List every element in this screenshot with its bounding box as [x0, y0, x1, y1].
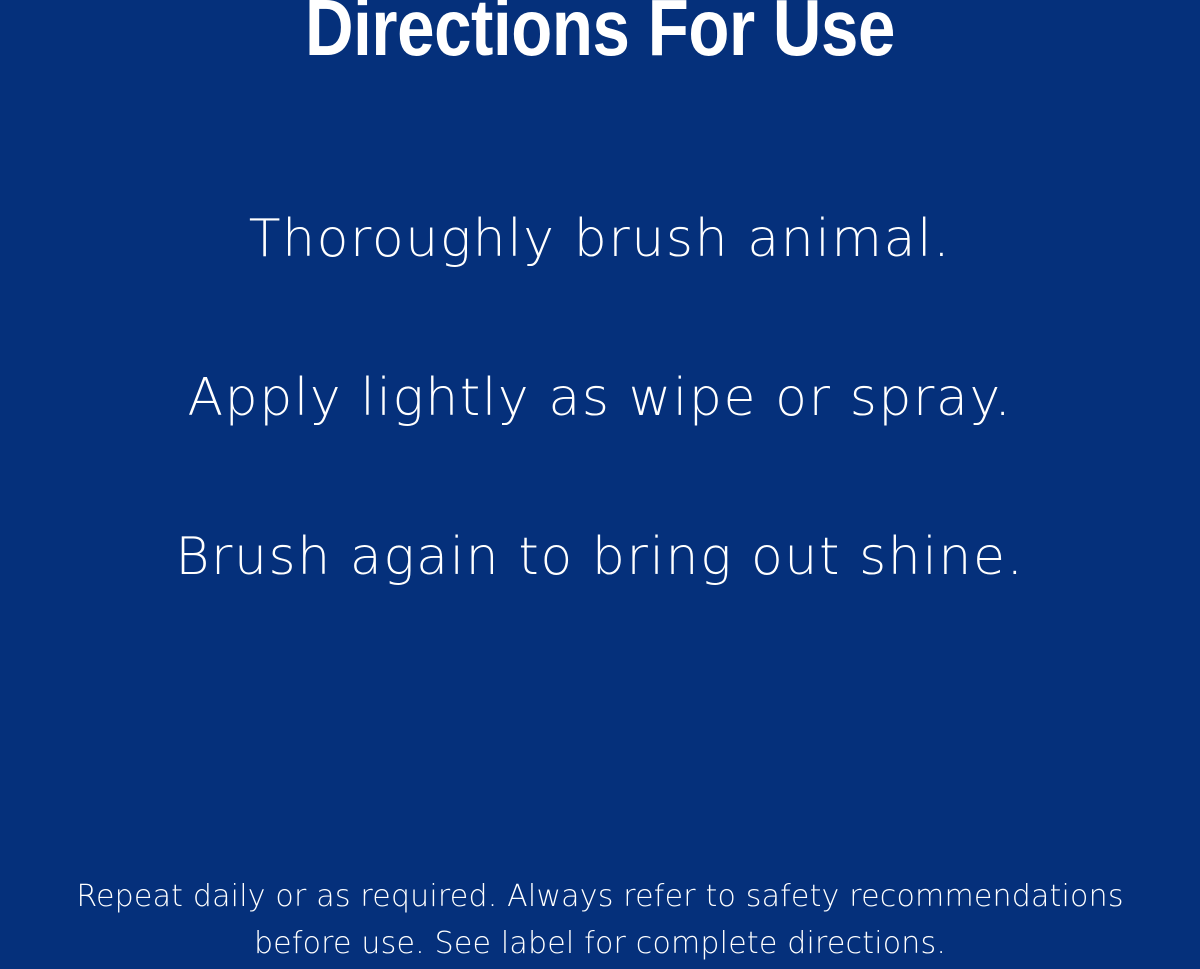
page-title: Directions For Use — [96, 0, 1104, 68]
footnote-line: before use. See label for complete direc… — [0, 920, 1200, 967]
instruction-step: Apply lightly as wipe or spray. — [0, 319, 1200, 478]
directions-for-use-panel: Directions For Use Thoroughly brush anim… — [0, 0, 1200, 969]
instruction-step-list: Thoroughly brush animal. Apply lightly a… — [0, 160, 1200, 637]
footnote-line: Repeat daily or as required. Always refe… — [0, 873, 1200, 920]
footnote-text: Repeat daily or as required. Always refe… — [0, 873, 1200, 967]
instruction-step: Thoroughly brush animal. — [0, 160, 1200, 319]
instruction-step: Brush again to bring out shine. — [0, 478, 1200, 637]
